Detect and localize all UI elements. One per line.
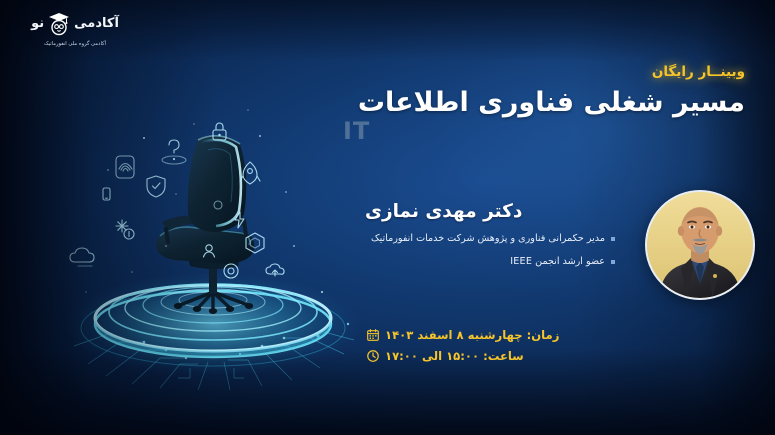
logo-word-right: آکادمی [74, 17, 119, 30]
page-subtitle: IT [333, 117, 753, 145]
list-item: مدیر حکمرانی فناوری و پژوهش شرکت خدمات ا… [365, 232, 615, 246]
clock-icon [367, 350, 379, 362]
event-meta: زمان: چهارشنبه ۸ اسفند ۱۴۰۳ ساعت [367, 328, 607, 370]
academy-owl-graduation-icon [46, 10, 72, 36]
headline-block: وبینــار رایگان مسیر شغلی فناوری اطلاعات… [333, 64, 753, 145]
event-date-text: زمان: چهارشنبه ۸ اسفند ۱۴۰۳ [385, 328, 559, 342]
logo-word-left: نو [31, 17, 44, 30]
calendar-icon [367, 329, 379, 341]
credential-text: مدیر حکمرانی فناوری و پژوهش شرکت خدمات ا… [365, 232, 605, 246]
event-date-row: زمان: چهارشنبه ۸ اسفند ۱۴۰۳ [367, 328, 607, 342]
webinar-banner: آکادمی نو آکادمی گروه ملی انفورماتیک وبی… [0, 0, 775, 435]
event-time-row: ساعت: ۱۵:۰۰ الی ۱۷:۰۰ [367, 349, 607, 363]
bullet-square-icon [611, 237, 615, 241]
brand-logo[interactable]: آکادمی نو آکادمی گروه ملی انفورماتیک [15, 8, 135, 47]
logo-tagline: آکادمی گروه ملی انفورماتیک [15, 41, 135, 47]
avatar [645, 190, 755, 300]
logo-row: آکادمی نو [15, 8, 135, 38]
page-title: مسیر شغلی فناوری اطلاعات [333, 87, 753, 119]
speaker-credentials-list: مدیر حکمرانی فناوری و پژوهش شرکت خدمات ا… [365, 232, 615, 269]
bullet-square-icon [611, 260, 615, 264]
free-webinar-kicker: وبینــار رایگان [333, 64, 753, 80]
list-item: عضو ارشد انجمن IEEE [365, 255, 615, 269]
speaker-block: دکتر مهدی نمازی مدیر حکمرانی فناوری و پژ… [365, 200, 615, 277]
event-time-text: ساعت: ۱۵:۰۰ الی ۱۷:۰۰ [385, 349, 524, 363]
credential-text: عضو ارشد انجمن IEEE [365, 255, 605, 269]
speaker-name: دکتر مهدی نمازی [365, 200, 615, 223]
